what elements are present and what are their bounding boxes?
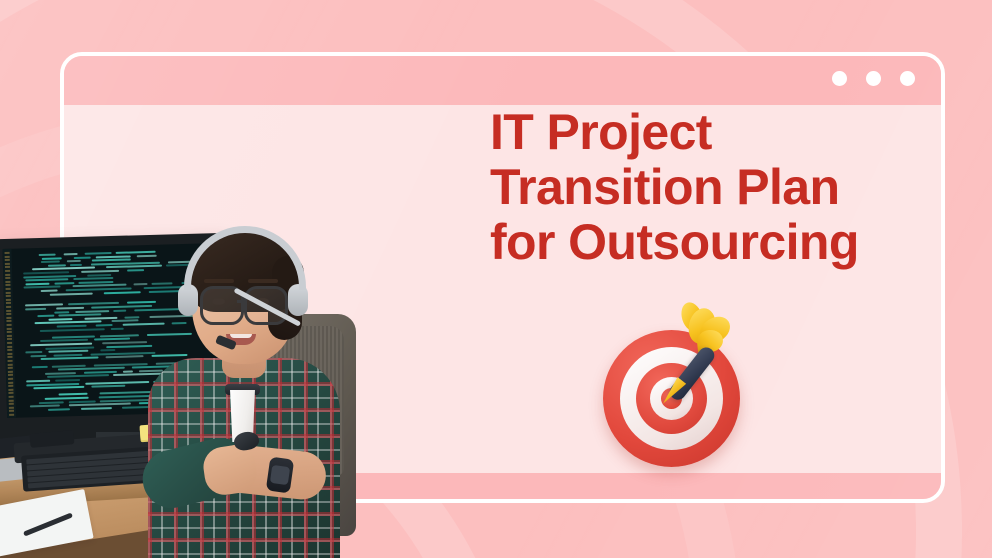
smartwatch-face (270, 465, 290, 485)
window-titlebar (64, 56, 941, 105)
office-photo (0, 232, 520, 558)
code-line-number-gutter (2, 249, 16, 418)
window-control-dots[interactable] (832, 71, 915, 86)
teeth (230, 334, 252, 338)
slide-canvas: IT Project Transition Plan for Outsourci… (0, 0, 992, 558)
window-dot-2-icon[interactable] (866, 71, 881, 86)
eyeglasses-bridge (237, 300, 246, 303)
page-title-line-3: for Outsourcing (490, 215, 940, 270)
target-rings (603, 330, 740, 467)
page-title-line-1: IT Project (490, 105, 940, 160)
dartboard-icon (603, 302, 748, 467)
headset-headband (184, 226, 306, 290)
page-title: IT Project Transition Plan for Outsourci… (490, 105, 940, 270)
window-dot-3-icon[interactable] (900, 71, 915, 86)
page-title-line-2: Transition Plan (490, 160, 940, 215)
window-dot-1-icon[interactable] (832, 71, 847, 86)
